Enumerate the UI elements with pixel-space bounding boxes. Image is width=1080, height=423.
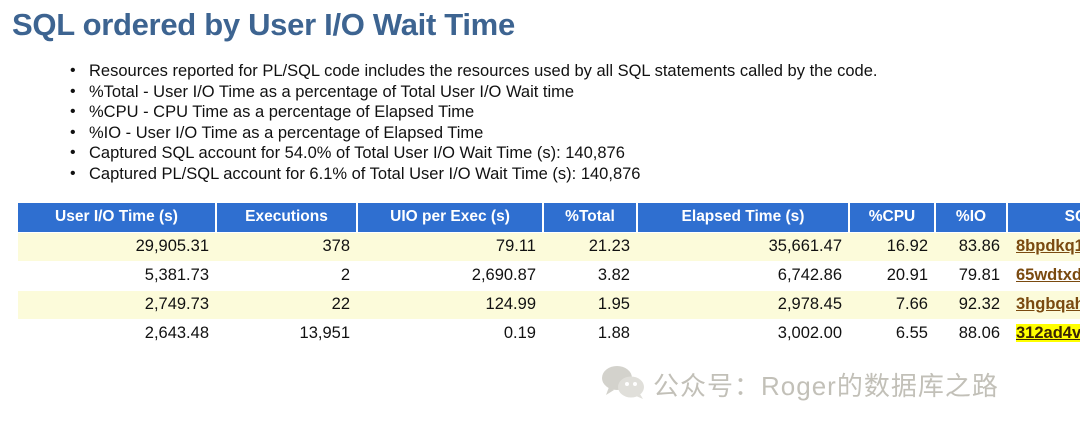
cell-pct-total: 1.95 [543, 290, 637, 319]
sql-id-link[interactable]: 312ad4vg4faxy [1016, 324, 1080, 342]
bullet-icon: • [70, 164, 76, 185]
bullet-icon: • [70, 123, 76, 144]
list-item: • %CPU - CPU Time as a percentage of Ela… [68, 102, 1080, 123]
bullet-icon: • [70, 102, 76, 123]
cell-uio-per-exec: 124.99 [357, 290, 543, 319]
cell-elapsed-time: 35,661.47 [637, 232, 849, 261]
sql-id-link[interactable]: 65wdtxdmrz595 [1016, 266, 1080, 284]
page-title: SQL ordered by User I/O Wait Time [12, 6, 1080, 44]
cell-sql-id: 3hgbqah5fs5jf [1007, 290, 1080, 319]
cell-pct-cpu: 7.66 [849, 290, 935, 319]
table-row: 29,905.31 378 79.11 21.23 35,661.47 16.9… [18, 232, 1080, 261]
column-header-pct-total[interactable]: %Total [543, 203, 637, 233]
sql-id-link[interactable]: 3hgbqah5fs5jf [1016, 295, 1080, 313]
column-header-uio-per-exec[interactable]: UIO per Exec (s) [357, 203, 543, 233]
cell-elapsed-time: 2,978.45 [637, 290, 849, 319]
list-item: • %IO - User I/O Time as a percentage of… [68, 123, 1080, 144]
cell-executions: 378 [216, 232, 357, 261]
column-header-user-io-time[interactable]: User I/O Time (s) [18, 203, 216, 233]
cell-pct-total: 21.23 [543, 232, 637, 261]
cell-sql-id: 8bpdkq1p5gjws [1007, 232, 1080, 261]
list-item-label: Captured SQL account for 54.0% of Total … [89, 144, 625, 162]
cell-pct-io: 88.06 [935, 319, 1007, 348]
cell-pct-cpu: 20.91 [849, 261, 935, 290]
list-item: • Captured SQL account for 54.0% of Tota… [68, 143, 1080, 164]
list-item: • %Total - User I/O Time as a percentage… [68, 82, 1080, 103]
cell-pct-cpu: 16.92 [849, 232, 935, 261]
cell-elapsed-time: 6,742.86 [637, 261, 849, 290]
cell-executions: 13,951 [216, 319, 357, 348]
list-item-label: Captured PL/SQL account for 6.1% of Tota… [89, 165, 640, 183]
bullet-icon: • [70, 82, 76, 103]
list-item-label: %Total - User I/O Time as a percentage o… [89, 83, 574, 101]
table-row: 5,381.73 2 2,690.87 3.82 6,742.86 20.91 … [18, 261, 1080, 290]
cell-pct-total: 3.82 [543, 261, 637, 290]
cell-user-io-time: 5,381.73 [18, 261, 216, 290]
bullet-icon: • [70, 143, 76, 164]
table-row: 2,749.73 22 124.99 1.95 2,978.45 7.66 92… [18, 290, 1080, 319]
list-item-label: %CPU - CPU Time as a percentage of Elaps… [89, 103, 474, 121]
cell-user-io-time: 2,749.73 [18, 290, 216, 319]
cell-user-io-time: 29,905.31 [18, 232, 216, 261]
bullet-icon: • [70, 61, 76, 82]
list-item: • Captured PL/SQL account for 6.1% of To… [68, 164, 1080, 185]
cell-pct-cpu: 6.55 [849, 319, 935, 348]
cell-user-io-time: 2,643.48 [18, 319, 216, 348]
cell-pct-io: 83.86 [935, 232, 1007, 261]
sql-statistics-table: User I/O Time (s) Executions UIO per Exe… [18, 203, 1080, 348]
cell-executions: 2 [216, 261, 357, 290]
cell-executions: 22 [216, 290, 357, 319]
column-header-sql-id[interactable]: SQL Id [1007, 203, 1080, 233]
cell-sql-id: 65wdtxdmrz595 [1007, 261, 1080, 290]
column-header-executions[interactable]: Executions [216, 203, 357, 233]
watermark-label: 公众号：Roger的数据库之路 [653, 366, 999, 403]
cell-elapsed-time: 3,002.00 [637, 319, 849, 348]
list-item-label: %IO - User I/O Time as a percentage of E… [89, 124, 483, 142]
list-item-label: Resources reported for PL/SQL code inclu… [89, 62, 877, 80]
cell-pct-total: 1.88 [543, 319, 637, 348]
column-header-pct-cpu[interactable]: %CPU [849, 203, 935, 233]
column-header-pct-io[interactable]: %IO [935, 203, 1007, 233]
watermark: 公众号：Roger的数据库之路 [600, 358, 1060, 410]
list-item: • Resources reported for PL/SQL code inc… [68, 61, 1080, 82]
cell-uio-per-exec: 0.19 [357, 319, 543, 348]
sql-id-link[interactable]: 8bpdkq1p5gjws [1016, 237, 1080, 255]
wechat-icon [600, 365, 646, 404]
cell-pct-io: 92.32 [935, 290, 1007, 319]
column-header-elapsed-time[interactable]: Elapsed Time (s) [637, 203, 849, 233]
cell-uio-per-exec: 2,690.87 [357, 261, 543, 290]
notes-list: • Resources reported for PL/SQL code inc… [0, 61, 1080, 185]
cell-uio-per-exec: 79.11 [357, 232, 543, 261]
cell-pct-io: 79.81 [935, 261, 1007, 290]
cell-sql-id: 312ad4vg4faxy [1007, 319, 1080, 348]
table-row: 2,643.48 13,951 0.19 1.88 3,002.00 6.55 … [18, 319, 1080, 348]
table-header-row: User I/O Time (s) Executions UIO per Exe… [18, 203, 1080, 233]
